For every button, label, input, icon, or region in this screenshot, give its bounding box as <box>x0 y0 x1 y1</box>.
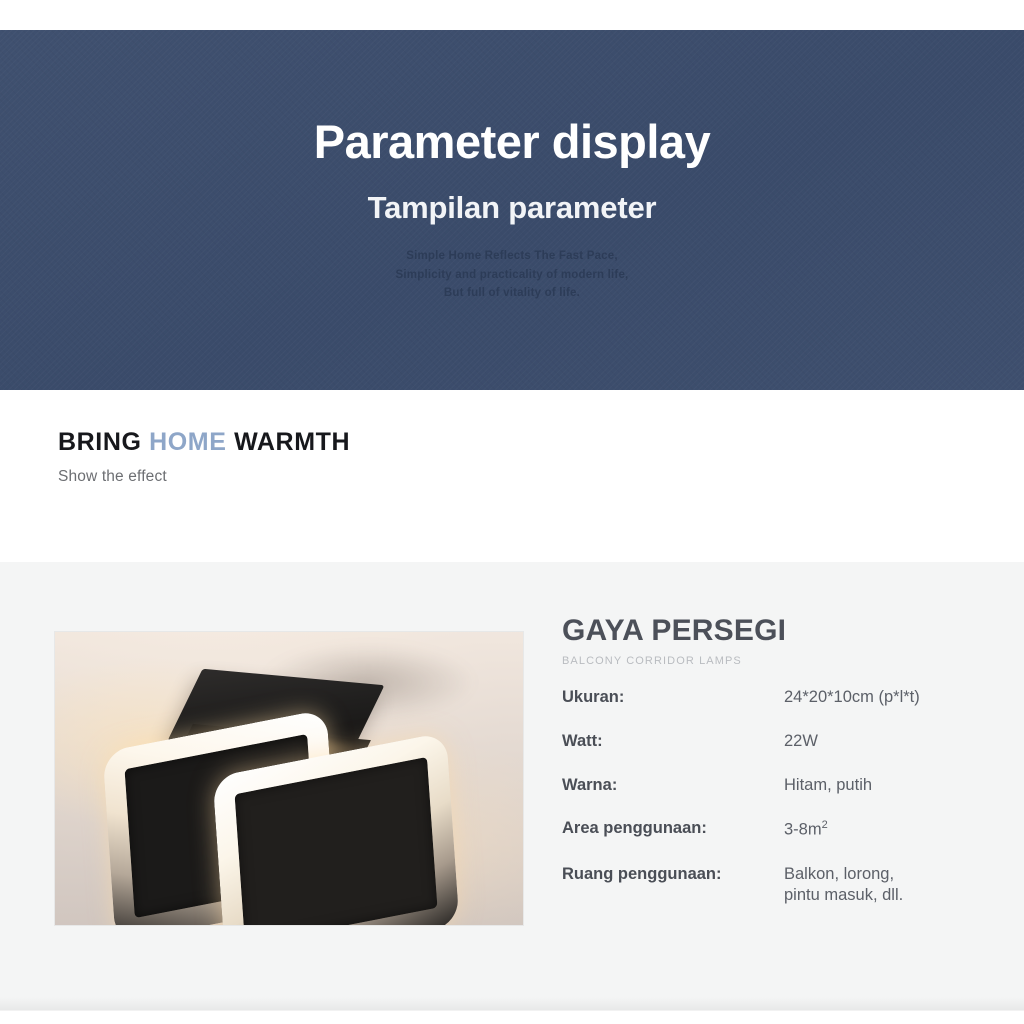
brand-word-warmth: WARMTH <box>234 428 350 456</box>
banner-title: Parameter display <box>314 118 710 165</box>
spec-label: Area penggunaan: <box>562 818 784 840</box>
spec-label: Warna: <box>562 775 784 797</box>
banner-desc-line-2: Simplicity and practicality of modern li… <box>396 266 629 285</box>
product-spec-section: GAYA PERSEGI BALCONY CORRIDOR LAMPS Ukur… <box>0 562 1024 1010</box>
product-title: GAYA PERSEGI <box>562 616 992 646</box>
brand-space-1 <box>142 428 150 456</box>
brand-block: BRING HOME WARMTH Show the effect <box>58 430 350 485</box>
spec-label: Ukuran: <box>562 687 784 709</box>
brand-section: BRING HOME WARMTH Show the effect <box>0 390 1024 562</box>
brand-headline: BRING HOME WARMTH <box>58 430 350 455</box>
brand-tagline: Show the effect <box>58 469 350 485</box>
banner-desc-line-1: Simple Home Reflects The Fast Pace, <box>396 247 629 266</box>
spec-row: Area penggunaan: 3-8m2 <box>562 818 992 841</box>
product-details: GAYA PERSEGI BALCONY CORRIDOR LAMPS Ukur… <box>562 562 992 929</box>
spec-value: 22W <box>784 731 818 753</box>
spec-value-text: 3-8m <box>784 821 822 839</box>
spec-label: Watt: <box>562 731 784 753</box>
product-photo <box>55 632 523 925</box>
banner-description: Simple Home Reflects The Fast Pace, Simp… <box>396 247 629 303</box>
banner-content: Parameter display Tampilan parameter Sim… <box>0 30 1024 390</box>
spec-value: Balkon, lorong, pintu masuk, dll. <box>784 864 903 908</box>
spec-label: Ruang penggunaan: <box>562 864 784 886</box>
brand-space-2 <box>227 428 235 456</box>
spec-value-superscript: 2 <box>822 819 828 831</box>
spec-row: Warna: Hitam, putih <box>562 775 992 797</box>
spec-value: Hitam, putih <box>784 775 872 797</box>
banner-desc-line-3: But full of vitality of life. <box>396 284 629 303</box>
spec-value: 24*20*10cm (p*l*t) <box>784 687 920 709</box>
spec-table: Ukuran: 24*20*10cm (p*l*t) Watt: 22W War… <box>562 687 992 907</box>
led-ceiling-lamp-illustration <box>89 659 489 909</box>
top-margin <box>0 0 1024 30</box>
spec-value: 3-8m2 <box>784 818 828 841</box>
section-bottom-shadow <box>0 997 1024 1011</box>
brand-word-bring: BRING <box>58 428 142 456</box>
spec-row: Ukuran: 24*20*10cm (p*l*t) <box>562 687 992 709</box>
banner-subtitle: Tampilan parameter <box>368 192 657 223</box>
spec-row: Watt: 22W <box>562 731 992 753</box>
product-subtitle: BALCONY CORRIDOR LAMPS <box>562 656 992 667</box>
spec-row: Ruang penggunaan: Balkon, lorong, pintu … <box>562 864 992 908</box>
brand-word-home: HOME <box>149 428 226 456</box>
parameter-banner: Parameter display Tampilan parameter Sim… <box>0 30 1024 390</box>
